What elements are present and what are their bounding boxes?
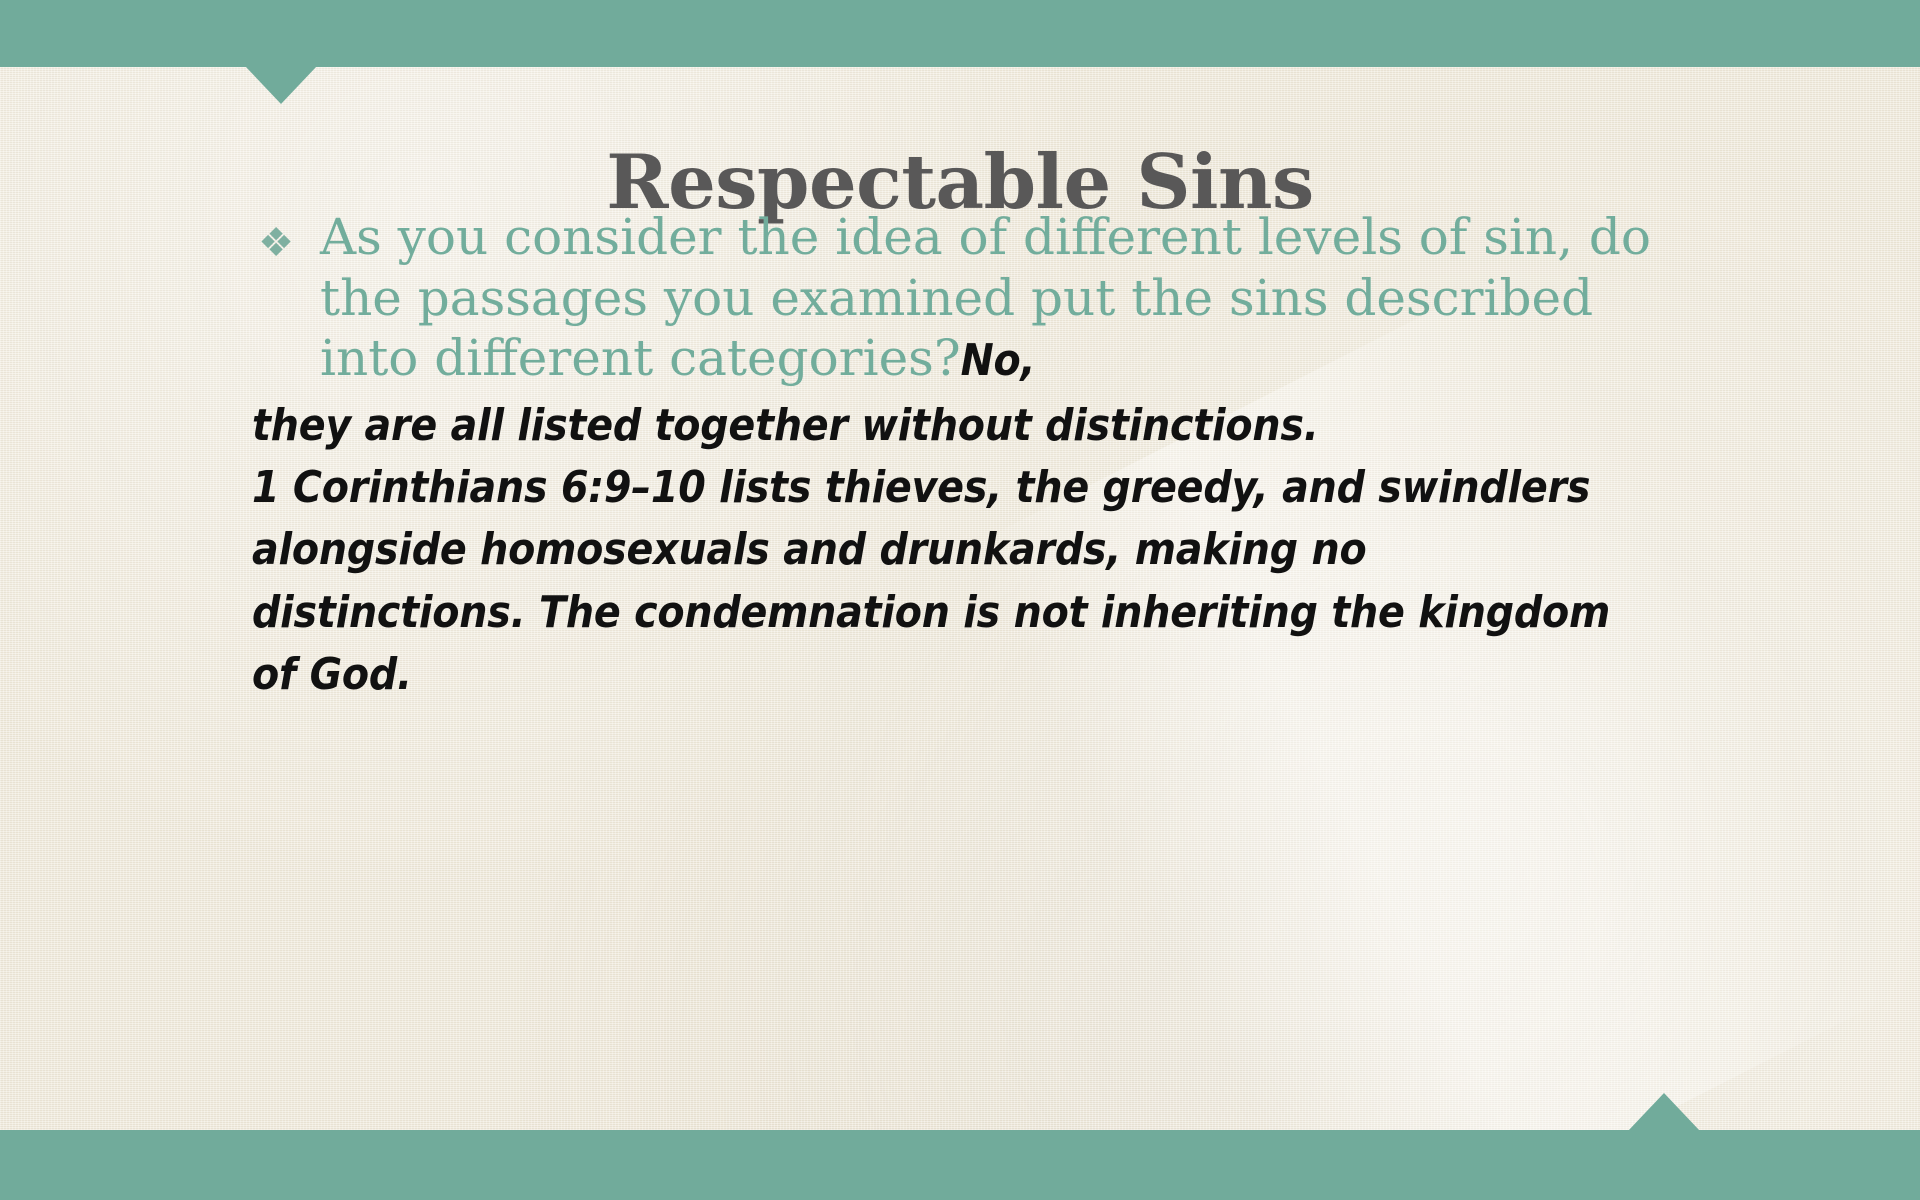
answer-inline-text: No, — [961, 335, 1036, 386]
presentation-slide: Respectable Sins ❖ As you consider the i… — [0, 0, 1920, 1200]
bottom-accent-band — [0, 1130, 1920, 1200]
four-diamond-bullet-icon: ❖ — [256, 223, 296, 263]
answer-body: they are all listed together without dis… — [252, 395, 1652, 707]
answer-line: 1 Corinthians 6:9–10 lists thieves, the … — [252, 457, 1652, 707]
answer-line: they are all listed together without dis… — [252, 395, 1652, 457]
top-accent-band — [0, 0, 1920, 67]
bullet-list-item: ❖ As you consider the idea of different … — [252, 207, 1680, 389]
slide-body: ❖ As you consider the idea of different … — [252, 207, 1672, 707]
slide-content-area: Respectable Sins ❖ As you consider the i… — [0, 67, 1920, 1130]
